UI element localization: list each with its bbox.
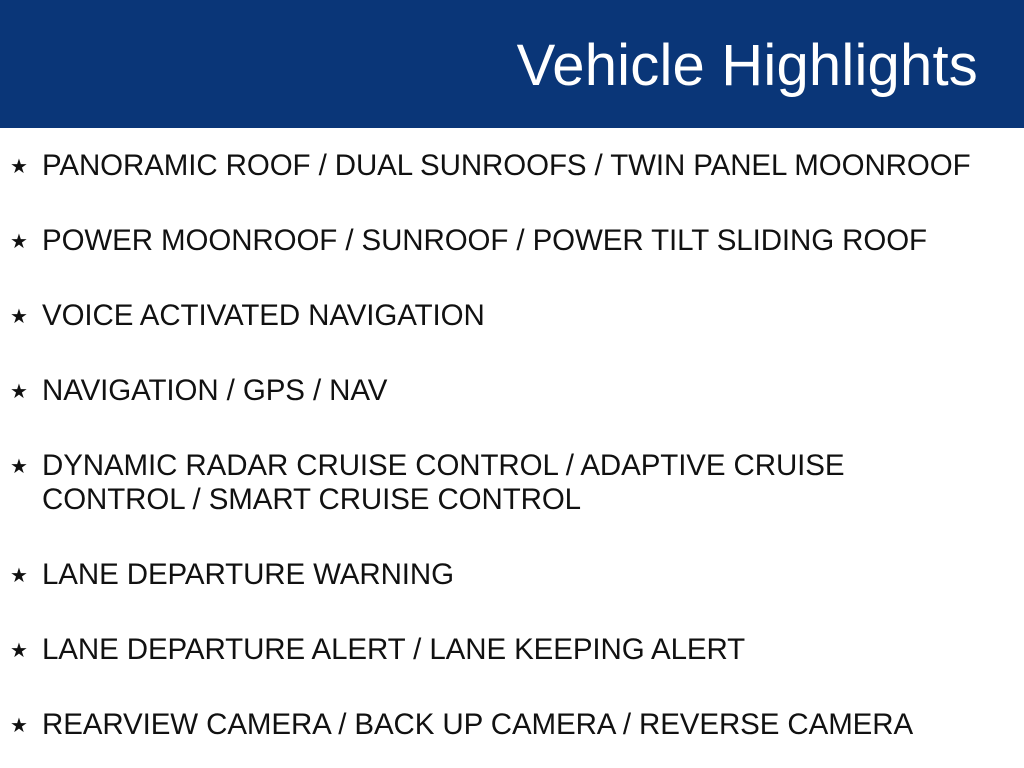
star-bullet-icon: ★ — [10, 224, 42, 258]
star-bullet-icon: ★ — [10, 299, 42, 333]
vehicle-highlights-list: ★ PANORAMIC ROOF / DUAL SUNROOFS / TWIN … — [0, 128, 1024, 768]
list-item-label: VOICE ACTIVATED NAVIGATION — [42, 299, 994, 333]
star-bullet-icon: ★ — [10, 633, 42, 667]
list-item-label: PANORAMIC ROOF / DUAL SUNROOFS / TWIN PA… — [42, 149, 994, 183]
list-item-label: LANE DEPARTURE ALERT / LANE KEEPING ALER… — [42, 633, 994, 667]
vehicle-highlights-slide: Vehicle Highlights ★ PANORAMIC ROOF / DU… — [0, 0, 1024, 768]
list-item: ★ POWER MOONROOF / SUNROOF / POWER TILT … — [10, 224, 1010, 258]
list-item: ★ REARVIEW CAMERA / BACK UP CAMERA / REV… — [10, 708, 1010, 742]
star-bullet-icon: ★ — [10, 708, 42, 742]
list-item: ★ PANORAMIC ROOF / DUAL SUNROOFS / TWIN … — [10, 149, 1010, 183]
star-bullet-icon: ★ — [10, 449, 42, 483]
list-item: ★ VOICE ACTIVATED NAVIGATION — [10, 299, 1010, 333]
list-item-label: NAVIGATION / GPS / NAV — [42, 374, 994, 408]
list-item-label: LANE DEPARTURE WARNING — [42, 558, 994, 592]
star-bullet-icon: ★ — [10, 149, 42, 183]
list-item-label: REARVIEW CAMERA / BACK UP CAMERA / REVER… — [42, 708, 994, 742]
list-item: ★ NAVIGATION / GPS / NAV — [10, 374, 1010, 408]
list-item: ★ LANE DEPARTURE WARNING — [10, 558, 1010, 592]
star-bullet-icon: ★ — [10, 374, 42, 408]
list-item: ★ LANE DEPARTURE ALERT / LANE KEEPING AL… — [10, 633, 1010, 667]
star-bullet-icon: ★ — [10, 558, 42, 592]
slide-header-band: Vehicle Highlights — [0, 0, 1024, 128]
list-item: ★ DYNAMIC RADAR CRUISE CONTROL / ADAPTIV… — [10, 449, 1010, 517]
list-item-label: DYNAMIC RADAR CRUISE CONTROL / ADAPTIVE … — [42, 449, 994, 517]
page-title: Vehicle Highlights — [517, 36, 978, 97]
list-item-label: POWER MOONROOF / SUNROOF / POWER TILT SL… — [42, 224, 994, 258]
